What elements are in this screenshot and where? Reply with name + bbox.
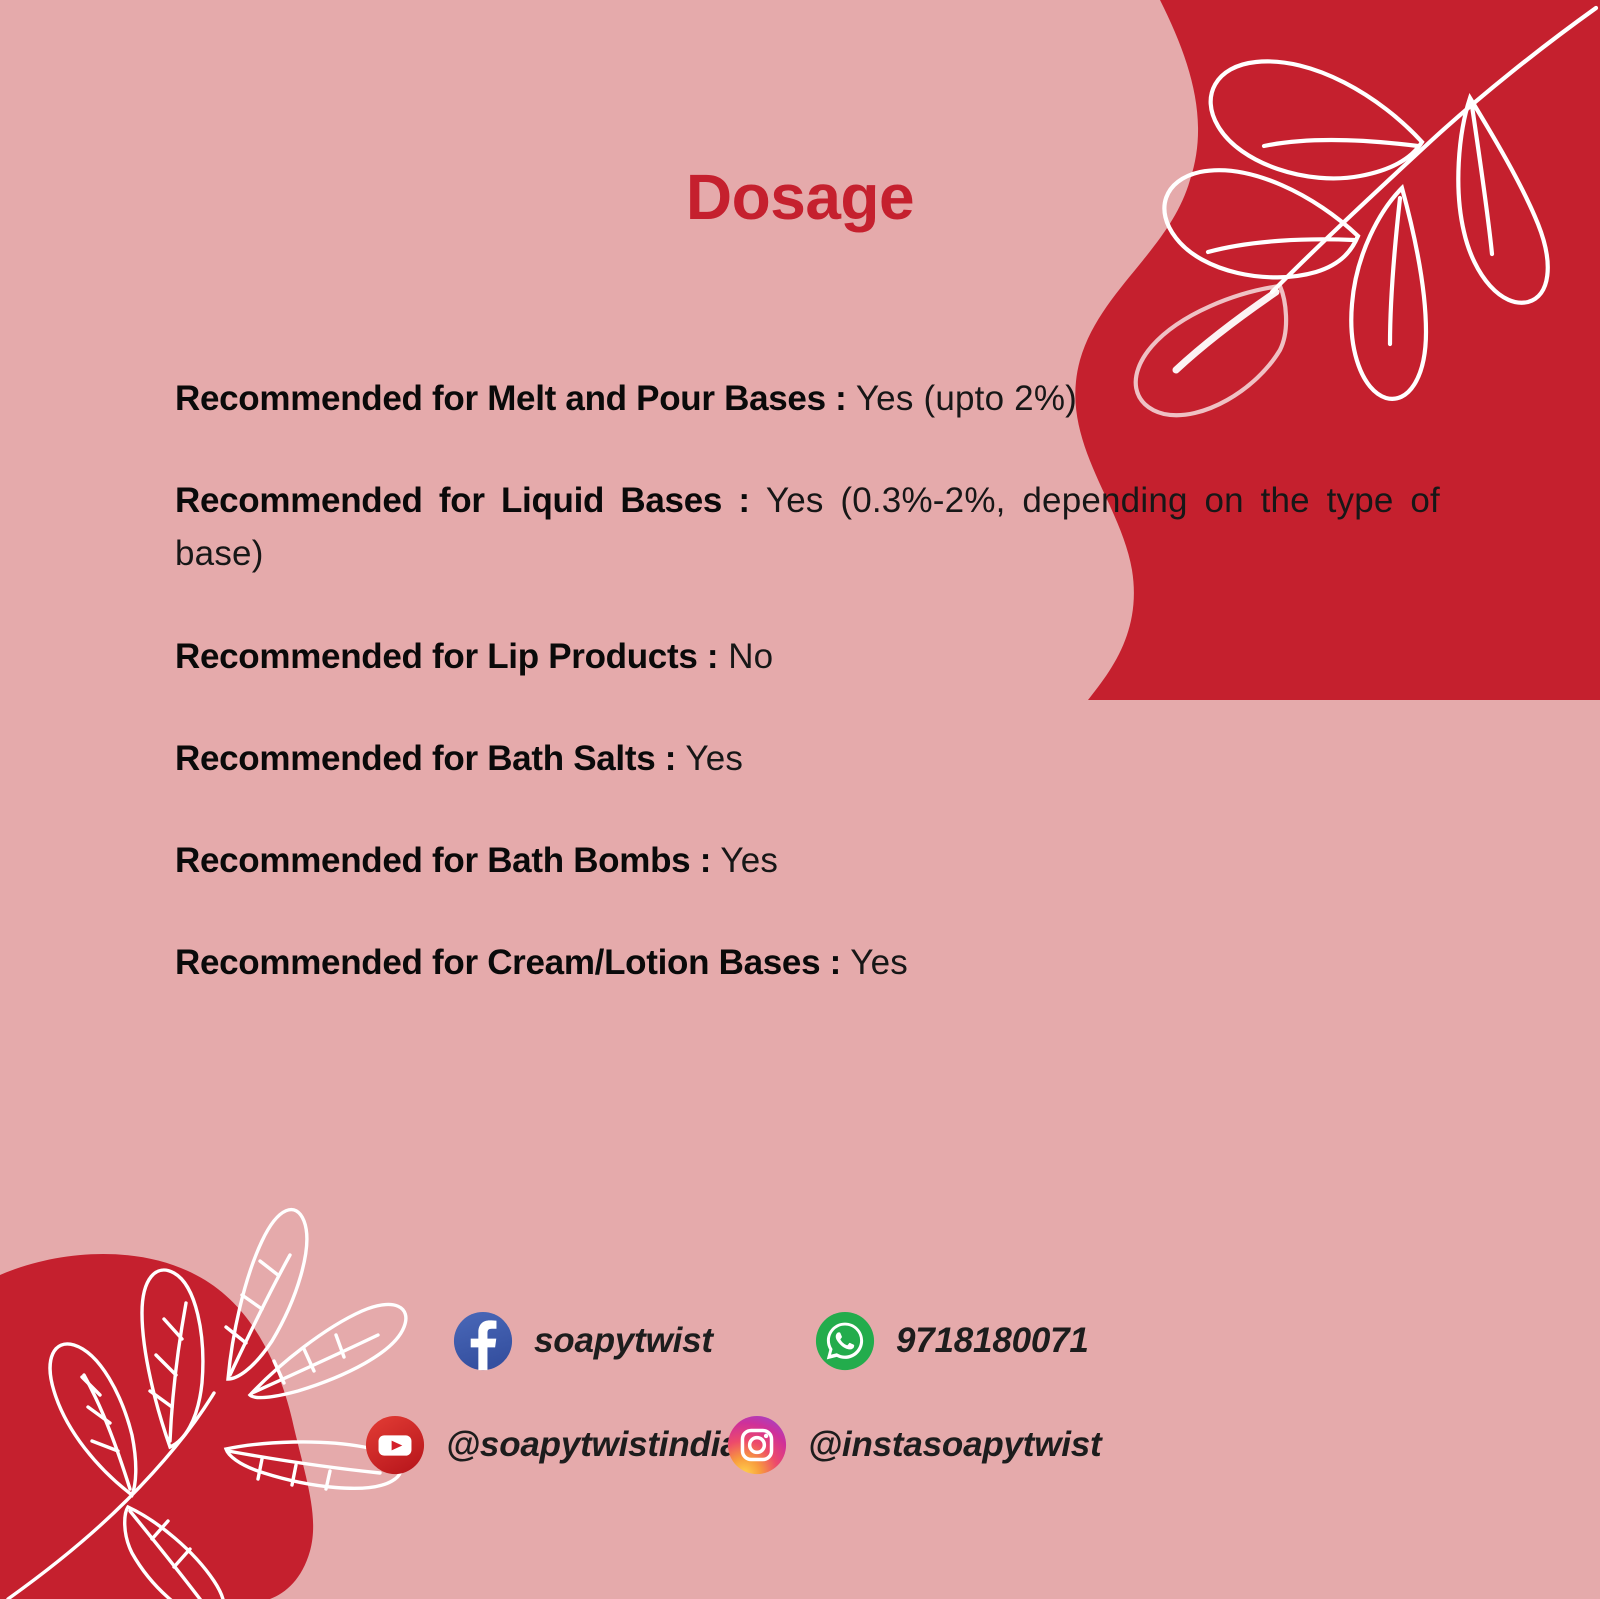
dosage-row: Recommended for Melt and Pour Bases : Ye… xyxy=(175,372,1440,425)
whatsapp-handle[interactable]: 9718180071 xyxy=(896,1321,1089,1361)
dosage-label: Recommended for Lip Products : xyxy=(175,637,718,676)
dosage-row: Recommended for Bath Bombs : Yes xyxy=(175,834,1440,887)
social-footer: soapytwist 9718180071 xyxy=(452,1297,1232,1505)
red-blob-bottom-left xyxy=(0,1254,313,1599)
dosage-poster: Dosage Recommended for Melt and Pour Bas… xyxy=(0,0,1600,1599)
facebook-handle[interactable]: soapytwist xyxy=(534,1321,713,1361)
social-row: @soapytwistindia xyxy=(452,1401,1232,1489)
dosage-value: Yes (upto 2%) xyxy=(847,379,1077,418)
dosage-value: Yes xyxy=(711,841,778,880)
dosage-row: Recommended for Cream/Lotion Bases : Yes xyxy=(175,936,1440,989)
social-youtube[interactable]: @soapytwistindia xyxy=(364,1414,726,1476)
social-row: soapytwist 9718180071 xyxy=(452,1297,1232,1385)
social-instagram[interactable]: @instasoapytwist xyxy=(726,1414,1126,1476)
instagram-icon[interactable] xyxy=(726,1414,788,1476)
leaf-branch-bottom-left xyxy=(8,1210,406,1599)
facebook-icon[interactable] xyxy=(452,1310,514,1372)
dosage-label: Recommended for Liquid Bases : xyxy=(175,481,750,520)
bottom-left-decoration xyxy=(0,1179,470,1599)
dosage-value: No xyxy=(718,637,773,676)
dosage-label: Recommended for Bath Bombs : xyxy=(175,841,711,880)
whatsapp-icon[interactable] xyxy=(814,1310,876,1372)
dosage-row: Recommended for Lip Products : No xyxy=(175,630,1440,683)
dosage-label: Recommended for Melt and Pour Bases : xyxy=(175,379,847,418)
social-facebook[interactable]: soapytwist xyxy=(452,1310,814,1372)
youtube-icon[interactable] xyxy=(364,1414,426,1476)
youtube-handle[interactable]: @soapytwistindia xyxy=(446,1425,739,1465)
dosage-label: Recommended for Bath Salts : xyxy=(175,739,676,778)
social-whatsapp[interactable]: 9718180071 xyxy=(814,1310,1214,1372)
dosage-row: Recommended for Bath Salts : Yes xyxy=(175,732,1440,785)
dosage-row: Recommended for Liquid Bases : Yes (0.3%… xyxy=(175,474,1440,580)
dosage-list: Recommended for Melt and Pour Bases : Ye… xyxy=(175,372,1440,1038)
dosage-label: Recommended for Cream/Lotion Bases : xyxy=(175,943,841,982)
instagram-handle[interactable]: @instasoapytwist xyxy=(808,1425,1102,1465)
dosage-value: Yes xyxy=(676,739,743,778)
dosage-value: Yes xyxy=(841,943,908,982)
page-title: Dosage xyxy=(0,160,1600,234)
